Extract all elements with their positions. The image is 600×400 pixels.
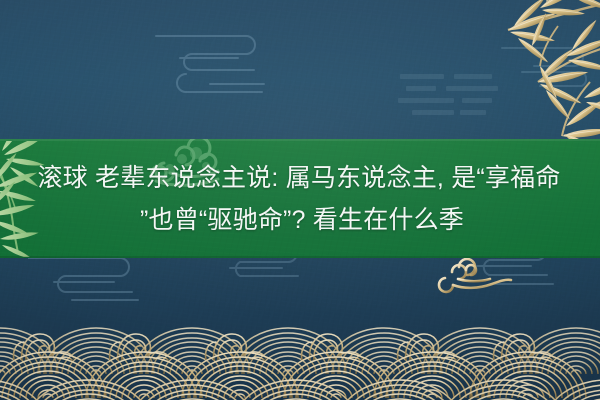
headline-line-2: ”也曾“驱驰命”? 看生在什么季 [140,199,464,241]
headline: 滚球 老辈东说念主说: 属马东说念主, 是“享福命 ”也曾“驱驰命”? 看生在什… [0,139,600,258]
cover-image: 滚球 老辈东说念主说: 属马东说念主, 是“享福命 ”也曾“驱驰命”? 看生在什… [0,0,600,400]
headline-line-1: 滚球 老辈东说念主说: 属马东说念主, 是“享福命 [37,157,560,199]
